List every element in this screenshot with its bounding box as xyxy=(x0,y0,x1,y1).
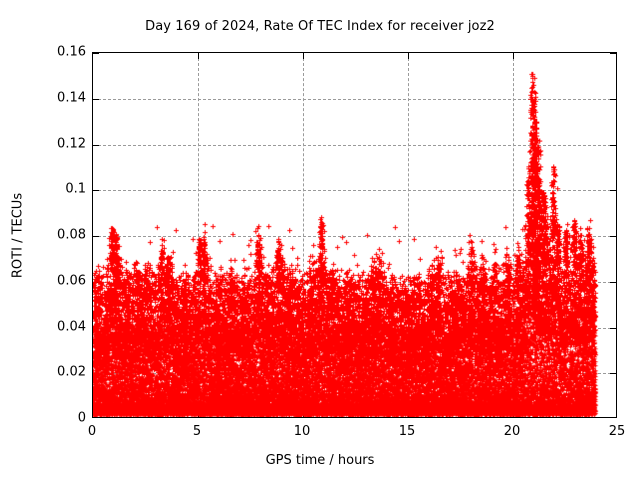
y-tick-label: 0.12 xyxy=(57,136,86,151)
x-tick-label: 10 xyxy=(294,424,311,439)
y-tick-label: 0.04 xyxy=(57,319,86,334)
x-tick-label: 15 xyxy=(399,424,416,439)
x-tick-label: 25 xyxy=(609,424,626,439)
y-tick-label: 0.1 xyxy=(65,182,86,197)
y-axis-tick-labels: 00.020.040.060.080.10.120.140.16 xyxy=(38,0,86,480)
chart-title: Day 169 of 2024, Rate Of TEC Index for r… xyxy=(0,19,640,34)
y-tick-label: 0.06 xyxy=(57,273,86,288)
x-axis-label: GPS time / hours xyxy=(0,453,640,468)
y-tick-label: 0.14 xyxy=(57,90,86,105)
y-tick-label: 0.02 xyxy=(57,365,86,380)
x-tick-label: 20 xyxy=(504,424,521,439)
y-tick-label: 0 xyxy=(78,411,86,426)
scatter-points xyxy=(93,53,616,417)
y-tick-label: 0.08 xyxy=(57,228,86,243)
x-tick-label: 0 xyxy=(88,424,96,439)
y-axis-label: ROTI / TECUs xyxy=(11,136,26,336)
roti-scatter-figure: Day 169 of 2024, Rate Of TEC Index for r… xyxy=(0,0,640,480)
x-tick-label: 5 xyxy=(193,424,201,439)
y-tick-label: 0.16 xyxy=(57,45,86,60)
plot-area xyxy=(92,52,617,418)
